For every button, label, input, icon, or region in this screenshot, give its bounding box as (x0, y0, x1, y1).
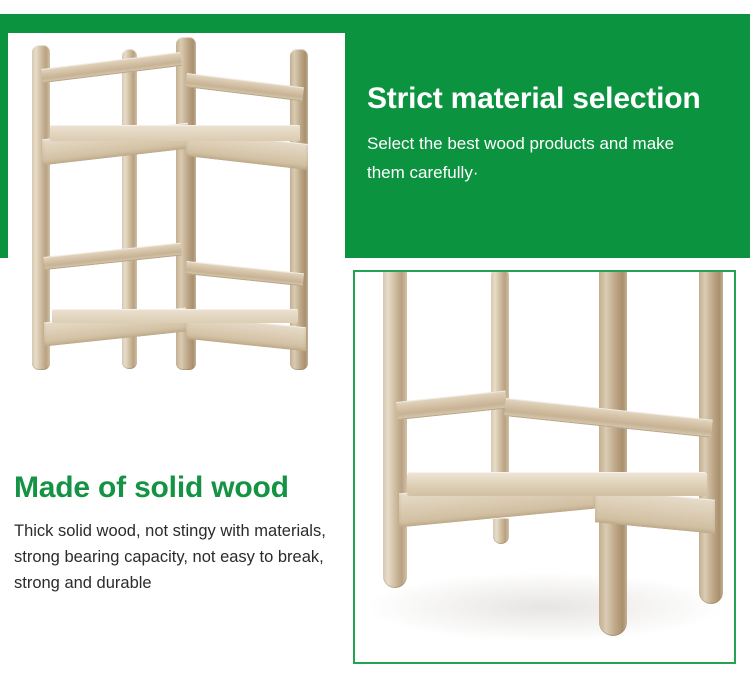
leg-back-middle (491, 272, 509, 484)
bottom-shelf-surface (407, 472, 707, 496)
shelf-board-lower-surface (52, 309, 298, 323)
product-feature-banner: Strict material selection Select the bes… (0, 0, 750, 682)
leg-front-center (599, 272, 627, 636)
wooden-shelf-illustration-top (8, 33, 345, 370)
made-of-solid-wood-block: Made of solid wood Thick solid wood, not… (14, 470, 344, 596)
leg-right (699, 272, 723, 604)
shelf-board-upper-surface (50, 125, 300, 141)
wooden-shelf-illustration-bottom (355, 272, 734, 662)
shelf-lower-rail-left (43, 243, 182, 270)
panel-heading: Strict material selection (367, 82, 724, 116)
floor-shadow (365, 572, 725, 642)
bottom-right-photo-frame (353, 270, 736, 664)
panel-body-text: Select the best wood products and make t… (367, 129, 712, 187)
shelf-top-rail-left (41, 52, 182, 83)
product-image-top-left (8, 33, 345, 370)
shelf-top-rail-right (185, 73, 304, 101)
shelf-foot-nub (493, 518, 509, 544)
left-copy-heading: Made of solid wood (14, 470, 344, 506)
product-image-bottom-right (355, 272, 734, 662)
left-copy-body-text: Thick solid wood, not stingy with materi… (14, 518, 344, 596)
shelf-lower-rail-right (185, 261, 304, 286)
leg-back-left (383, 272, 407, 588)
strict-material-selection-panel: Strict material selection Select the bes… (345, 14, 750, 258)
